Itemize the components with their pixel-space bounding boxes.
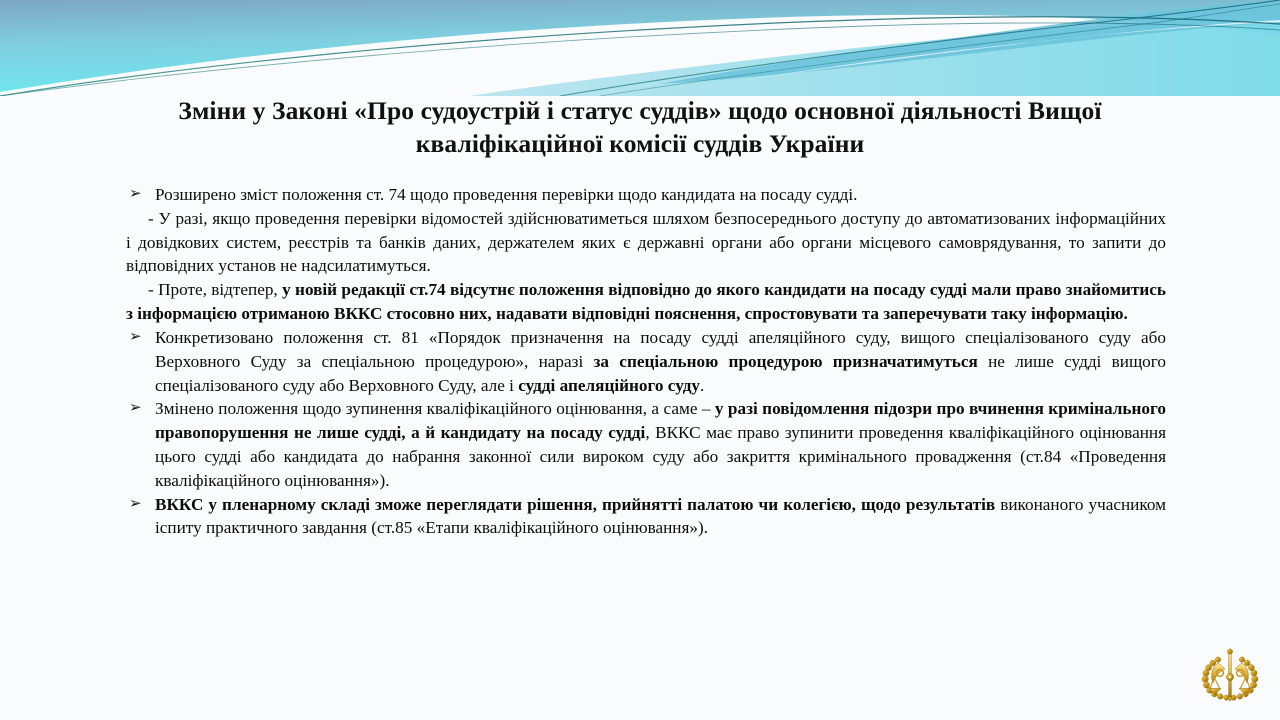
- bullet-text: Змінено положення щодо зупинення кваліфі…: [155, 397, 1166, 492]
- bullet-text: ВККС у пленарному складі зможе перегляда…: [155, 493, 1166, 541]
- text-run: Розширено зміст положення ст. 74 щодо пр…: [155, 185, 857, 204]
- bullet-arrow-icon: ➢: [129, 184, 149, 206]
- slide-body: ➢Розширено зміст положення ст. 74 щодо п…: [126, 183, 1166, 540]
- bullet-item: ➢Змінено положення щодо зупинення кваліф…: [126, 397, 1166, 492]
- text-run-bold: за спеціальною процедурою призначатимуть…: [594, 352, 978, 371]
- judiciary-emblem: [1196, 643, 1264, 711]
- text-run: Змінено положення щодо зупинення кваліфі…: [155, 399, 715, 418]
- bullet-arrow-icon: ➢: [129, 494, 149, 516]
- bullet-item: ➢ВККС у пленарному складі зможе перегляд…: [126, 493, 1166, 541]
- bullet-text: Розширено зміст положення ст. 74 щодо пр…: [155, 183, 1166, 207]
- bullet-item: ➢Конкретизовано положення ст. 81 «Порядо…: [126, 326, 1166, 397]
- text-run-bold: судді апеляційного суду: [518, 376, 700, 395]
- bullet-text: Конкретизовано положення ст. 81 «Порядок…: [155, 326, 1166, 397]
- header-decoration: [0, 0, 1280, 96]
- body-paragraph: - Проте, відтепер, у новій редакції ст.7…: [126, 278, 1166, 326]
- page-title: Зміни у Законі «Про судоустрій і статус …: [130, 95, 1150, 160]
- bullet-arrow-icon: ➢: [129, 398, 149, 420]
- text-run: .: [700, 376, 704, 395]
- text-run-bold: ВККС у пленарному складі зможе перегляда…: [155, 495, 995, 514]
- text-run-bold: у новій редакції ст.74 відсутнє положенн…: [126, 280, 1166, 323]
- body-paragraph: - У разі, якщо проведення перевірки відо…: [126, 207, 1166, 278]
- text-run: - Проте, відтепер,: [148, 280, 282, 299]
- bullet-arrow-icon: ➢: [129, 327, 149, 349]
- text-run: - У разі, якщо проведення перевірки відо…: [126, 209, 1166, 276]
- bullet-item: ➢Розширено зміст положення ст. 74 щодо п…: [126, 183, 1166, 207]
